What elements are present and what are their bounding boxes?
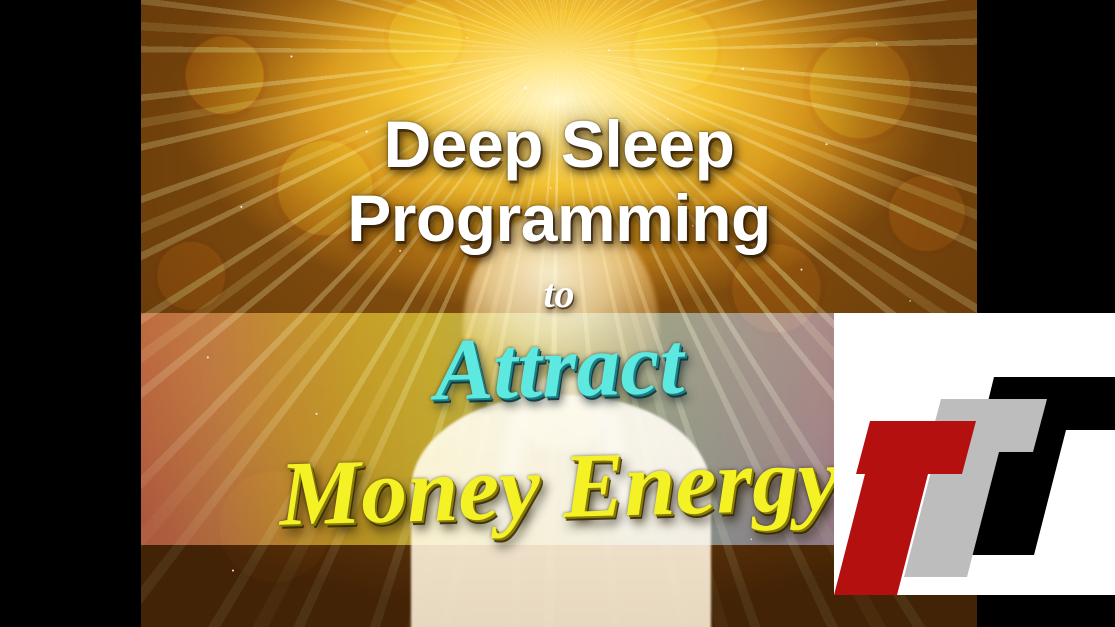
letterbox-bar-left: [0, 0, 141, 627]
ttt-logo-graphic: [834, 313, 1115, 595]
video-thumbnail-stage: Deep Sleep Programming to Attract Money …: [0, 0, 1115, 627]
ttt-logo[interactable]: [834, 313, 1115, 595]
